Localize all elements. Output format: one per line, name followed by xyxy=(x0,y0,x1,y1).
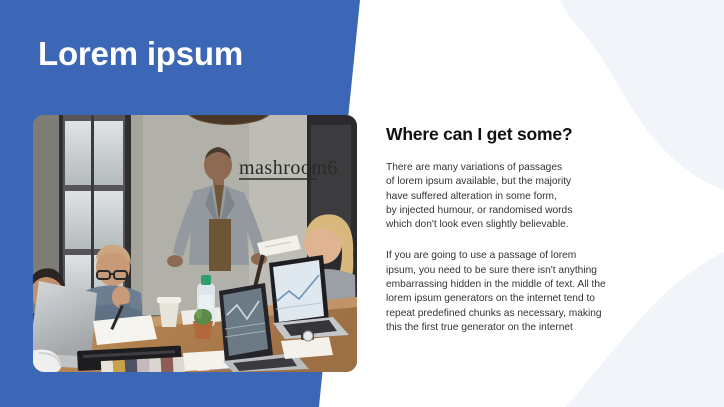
body-paragraph-1: There are many variations of passages of… xyxy=(386,161,644,232)
page-title: Lorem ipsum xyxy=(38,34,243,74)
svg-text:mashroom6: mashroom6 xyxy=(239,157,338,179)
hero-photo: mashroom6 xyxy=(33,115,357,372)
body-paragraph-2: If you are going to use a passage of lor… xyxy=(386,249,644,335)
content-column: Where can I get some? There are many var… xyxy=(386,124,644,335)
slide-canvas: Lorem ipsum xyxy=(0,0,724,407)
section-heading: Where can I get some? xyxy=(386,124,644,145)
